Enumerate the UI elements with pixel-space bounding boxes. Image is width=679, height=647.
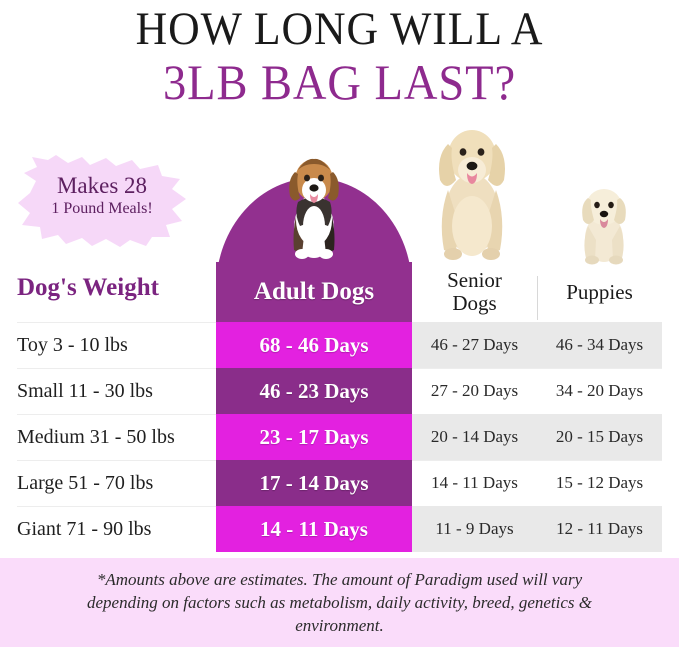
table-row: Toy 3 - 10 lbs 68 - 46 Days 46 - 27 Days… — [0, 322, 679, 368]
table-row: Giant 71 - 90 lbs 14 - 11 Days 11 - 9 Da… — [0, 506, 679, 552]
senior-header-line-2: Dogs — [452, 291, 496, 315]
title-line-1: HOW LONG WILL A — [24, 4, 655, 54]
footer-disclaimer: *Amounts above are estimates. The amount… — [0, 558, 679, 647]
column-header-weight: Dog's Weight — [17, 274, 159, 302]
cell-weight: Toy 3 - 10 lbs — [17, 322, 128, 368]
cell-puppies: 15 - 12 Days — [537, 460, 662, 506]
cell-puppies: 20 - 15 Days — [537, 414, 662, 460]
table-row: Large 51 - 70 lbs 17 - 14 Days 14 - 11 D… — [0, 460, 679, 506]
cell-adult-dogs: 68 - 46 Days — [216, 322, 412, 368]
cell-puppies: 46 - 34 Days — [537, 322, 662, 368]
cell-weight: Giant 71 - 90 lbs — [17, 506, 151, 552]
badge-headline: Makes 28 — [16, 173, 188, 199]
column-header-adult-dogs: Adult Dogs — [216, 262, 412, 322]
badge-subline: 1 Pound Meals! — [16, 199, 188, 218]
table-header-row: Dog's Weight Adult Dogs Senior Dogs Pupp… — [0, 262, 679, 322]
cell-puppies: 34 - 20 Days — [537, 368, 662, 414]
title-line-2: 3LB BAG LAST? — [24, 54, 655, 110]
column-header-puppies: Puppies — [537, 262, 662, 322]
cell-weight: Large 51 - 70 lbs — [17, 460, 153, 506]
cell-senior-dogs: 46 - 27 Days — [412, 322, 537, 368]
table-row: Medium 31 - 50 lbs 23 - 17 Days 20 - 14 … — [0, 414, 679, 460]
cell-adult-dogs: 46 - 23 Days — [216, 368, 412, 414]
table-row: Small 11 - 30 lbs 46 - 23 Days 27 - 20 D… — [0, 368, 679, 414]
senior-dog-image — [420, 118, 525, 266]
column-header-senior-dogs: Senior Dogs — [412, 262, 537, 322]
cell-senior-dogs: 14 - 11 Days — [412, 460, 537, 506]
cell-adult-dogs: 14 - 11 Days — [216, 506, 412, 552]
cell-senior-dogs: 27 - 20 Days — [412, 368, 537, 414]
cell-adult-dogs: 17 - 14 Days — [216, 460, 412, 506]
senior-header-line-1: Senior — [447, 268, 502, 292]
cell-weight: Medium 31 - 50 lbs — [17, 414, 175, 460]
page-title: HOW LONG WILL A 3LB BAG LAST? — [0, 0, 679, 110]
disclaimer-text: *Amounts above are estimates. The amount… — [60, 568, 620, 637]
puppy-image — [570, 180, 638, 266]
cell-senior-dogs: 20 - 14 Days — [412, 414, 537, 460]
cell-puppies: 12 - 11 Days — [537, 506, 662, 552]
cell-senior-dogs: 11 - 9 Days — [412, 506, 537, 552]
adult-dog-image — [268, 150, 360, 265]
cell-weight: Small 11 - 30 lbs — [17, 368, 153, 414]
cell-adult-dogs: 23 - 17 Days — [216, 414, 412, 460]
comparison-table: Dog's Weight Adult Dogs Senior Dogs Pupp… — [0, 262, 679, 552]
makes-meals-badge: Makes 28 1 Pound Meals! — [16, 155, 188, 247]
